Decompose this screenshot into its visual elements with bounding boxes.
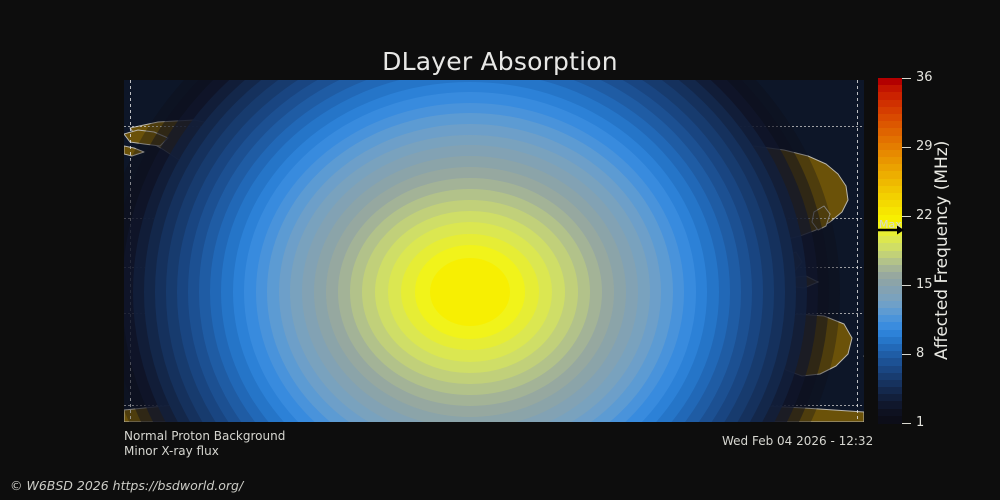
status-timestamp: Wed Feb 04 2026 - 12:32 xyxy=(722,434,873,448)
colorbar-tick xyxy=(902,285,911,286)
copyright-notice: © W6BSD 2026 https://bsdworld.org/ xyxy=(10,478,243,493)
colorbar-tick-label: 1 xyxy=(916,415,924,430)
app-root: DLayer Absorption xyxy=(0,0,1000,500)
colorbar-tick xyxy=(902,354,911,355)
status-proton: Normal Proton Background xyxy=(124,429,285,443)
colorbar-tick-label: 8 xyxy=(916,346,924,361)
absorption-contour-band xyxy=(430,258,510,326)
colorbar[interactable] xyxy=(878,78,902,423)
absorption-overlay xyxy=(124,80,864,422)
colorbar-axis-label: Affected Frequency (MHz) xyxy=(930,78,954,423)
colorbar-tick xyxy=(902,78,911,79)
colorbar-segment xyxy=(878,416,902,424)
colorbar-max-arrow-icon xyxy=(877,224,905,236)
status-xray: Minor X-ray flux xyxy=(124,444,219,458)
colorbar-tick xyxy=(902,216,911,217)
page-title: DLayer Absorption xyxy=(0,47,1000,76)
colorbar-tick xyxy=(902,147,911,148)
world-map[interactable] xyxy=(124,80,864,422)
colorbar-tick xyxy=(902,423,911,424)
